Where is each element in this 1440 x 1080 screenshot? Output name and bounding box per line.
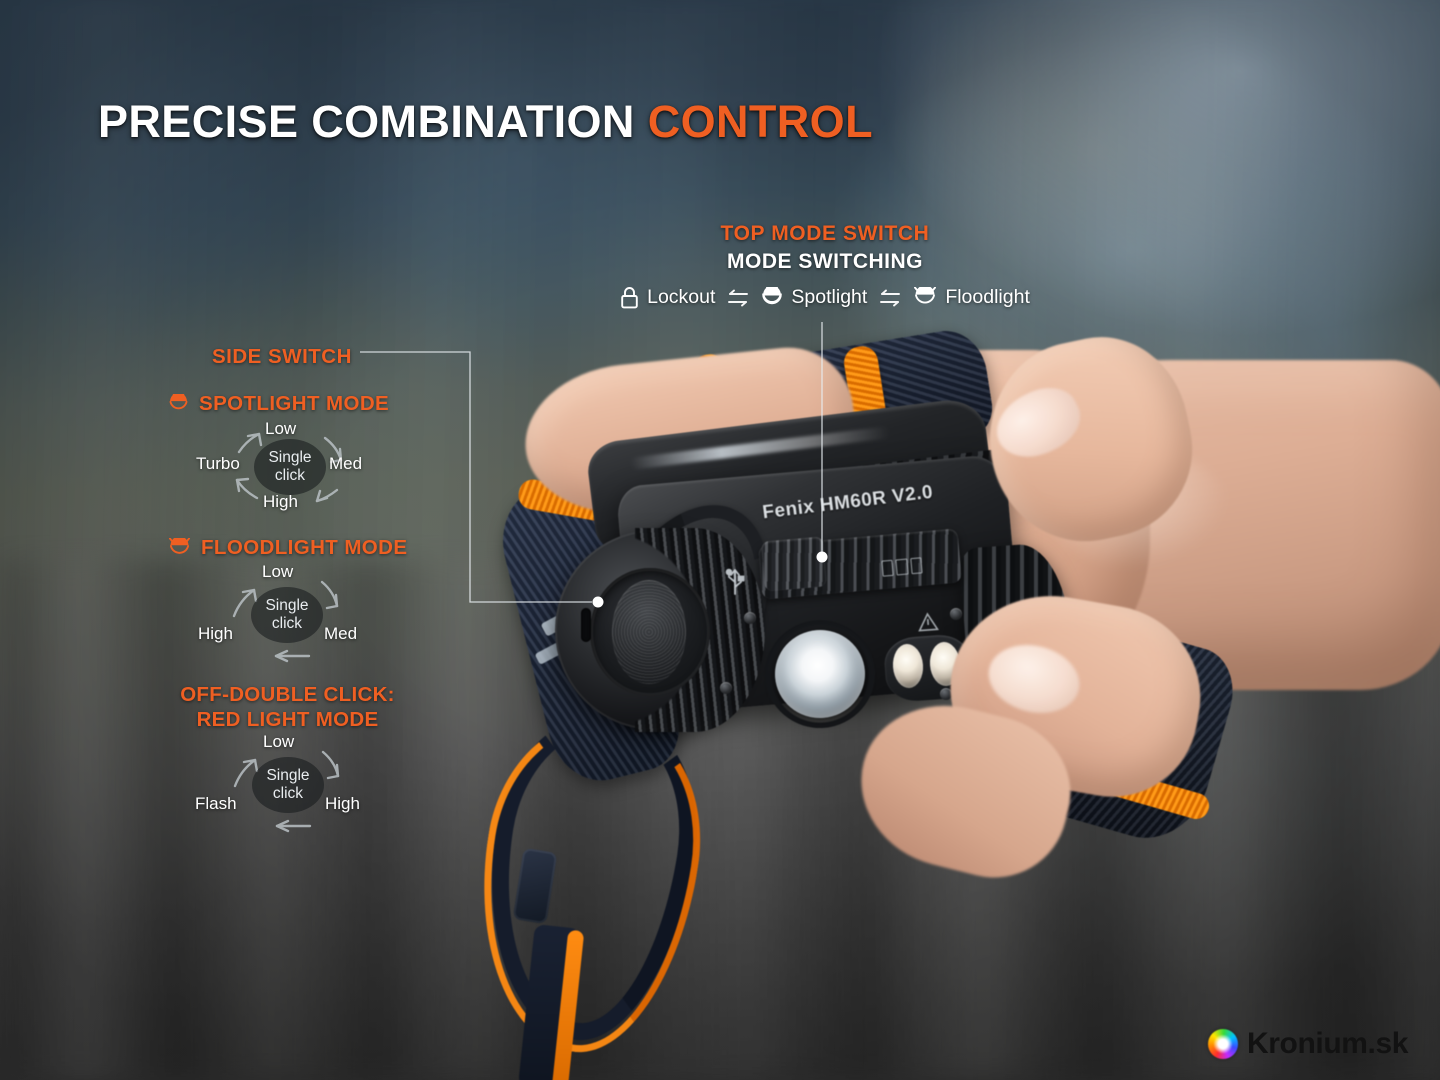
infographic-stage: Fenix HM60R V2.0 PRECISE COMBINATION CON… — [0, 0, 1440, 1080]
lock-icon — [620, 286, 639, 309]
cycle-step-high: High — [325, 794, 360, 814]
cycle-step-low: Low — [262, 562, 293, 582]
mode-label-lockout: Lockout — [647, 286, 715, 309]
top-mode-switch-callout: TOP MODE SWITCH MODE SWITCHING Lockout — [560, 222, 1090, 309]
single-click-pill: Single click — [252, 757, 324, 813]
body-screw — [720, 682, 732, 694]
single-click-line1: Single — [265, 597, 308, 615]
cycle-step-turbo: Turbo — [196, 454, 240, 474]
strap-hanging-loop-orange — [457, 701, 719, 1066]
mode-label-floodlight: Floodlight — [945, 286, 1030, 309]
mode-label-spotlight: Spotlight — [791, 286, 867, 309]
body-screw — [950, 608, 962, 620]
swap-arrows-icon — [726, 289, 750, 307]
single-click-pill: Single click — [251, 587, 323, 643]
floodlight-icon — [168, 538, 191, 559]
top-mode-switch-heading: TOP MODE SWITCH — [560, 222, 1090, 246]
floodlight-mode-heading: FLOODLIGHT MODE — [201, 536, 407, 560]
watermark-text: Kronium.sk — [1247, 1027, 1408, 1061]
top-mode-switch-cap[interactable] — [761, 536, 827, 591]
watermark[interactable]: Kronium.sk — [1208, 1027, 1408, 1061]
rgb-circle-logo-icon — [1208, 1029, 1238, 1059]
cycle-step-high: High — [263, 492, 298, 512]
hazard-warning-icon — [916, 611, 939, 632]
single-click-line1: Single — [266, 767, 309, 785]
spotlight-mode-cycle: Single click Low Med High Turbo — [175, 412, 405, 522]
top-mode-switch-subheading: MODE SWITCHING — [560, 250, 1090, 274]
page-title-highlight: CONTROL — [648, 96, 873, 147]
red-light-mode-heading: OFF-DOUBLE CLICK: RED LIGHT MODE — [175, 682, 400, 732]
cycle-step-low: Low — [265, 419, 296, 439]
mode-item-spotlight: Spotlight — [761, 286, 867, 309]
usb-icon — [722, 562, 748, 596]
cycle-step-flash: Flash — [195, 794, 237, 814]
floodlight-mode-heading-row: FLOODLIGHT MODE — [168, 536, 407, 560]
charging-port-slot — [581, 608, 591, 642]
floodlight-mode-cycle: Single click Low Med High — [172, 560, 402, 670]
mode-sequence-row: Lockout Spotlight — [560, 286, 1090, 309]
red-light-mode-cycle: Single click Low High Flash — [173, 730, 403, 840]
cycle-step-med: Med — [329, 454, 362, 474]
product-photo-hand-holding-headlamp: Fenix HM60R V2.0 — [430, 330, 1440, 1050]
red-light-heading-line1: OFF-DOUBLE CLICK: — [175, 682, 400, 707]
red-light-heading-line2: RED LIGHT MODE — [175, 707, 400, 732]
single-click-line2: click — [273, 785, 303, 803]
single-click-pill: Single click — [254, 439, 326, 495]
body-screw — [744, 612, 756, 624]
spotlight-icon — [761, 287, 783, 309]
single-click-line1: Single — [268, 449, 311, 467]
page-title-plain: PRECISE COMBINATION — [98, 96, 648, 147]
swap-arrows-icon — [878, 289, 902, 307]
single-click-line2: click — [275, 467, 305, 485]
mode-item-lockout: Lockout — [620, 286, 715, 309]
side-switch-label: SIDE SWITCH — [212, 345, 352, 369]
mode-item-floodlight: Floodlight — [913, 286, 1030, 309]
page-title: PRECISE COMBINATION CONTROL — [98, 96, 873, 148]
cycle-step-high: High — [198, 624, 233, 644]
single-click-line2: click — [272, 615, 302, 633]
cycle-step-med: Med — [324, 624, 357, 644]
side-switch-button[interactable] — [612, 580, 686, 684]
floodlight-icon — [913, 287, 937, 309]
cycle-step-low: Low — [263, 732, 294, 752]
